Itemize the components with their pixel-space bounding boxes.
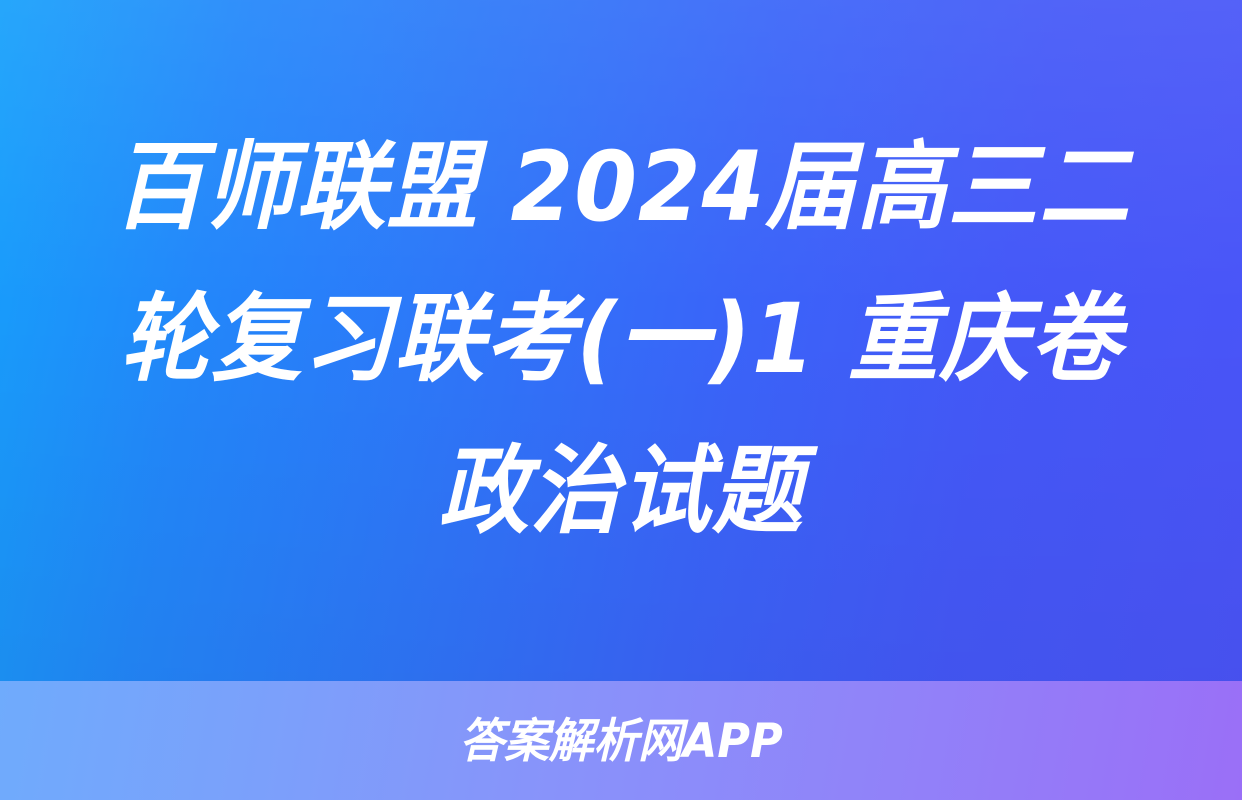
app-watermark: 答案解析网APP xyxy=(459,714,782,770)
title-line-2: 轮复习联考(一)1 重庆卷 xyxy=(113,263,1128,415)
poster-canvas: 百师联盟 2024届高三二 轮复习联考(一)1 重庆卷 政治试题 答案解析网AP… xyxy=(0,0,1242,800)
footer-band: 答案解析网APP xyxy=(0,681,1242,800)
title-line-1: 百师联盟 2024届高三二 xyxy=(113,111,1128,263)
hero-gradient-background: 百师联盟 2024届高三二 轮复习联考(一)1 重庆卷 政治试题 xyxy=(0,0,1242,681)
hero-content: 百师联盟 2024届高三二 轮复习联考(一)1 重庆卷 政治试题 xyxy=(0,0,1242,681)
title-line-3: 政治试题 xyxy=(113,415,1128,567)
page-title: 百师联盟 2024届高三二 轮复习联考(一)1 重庆卷 政治试题 xyxy=(81,111,1161,567)
